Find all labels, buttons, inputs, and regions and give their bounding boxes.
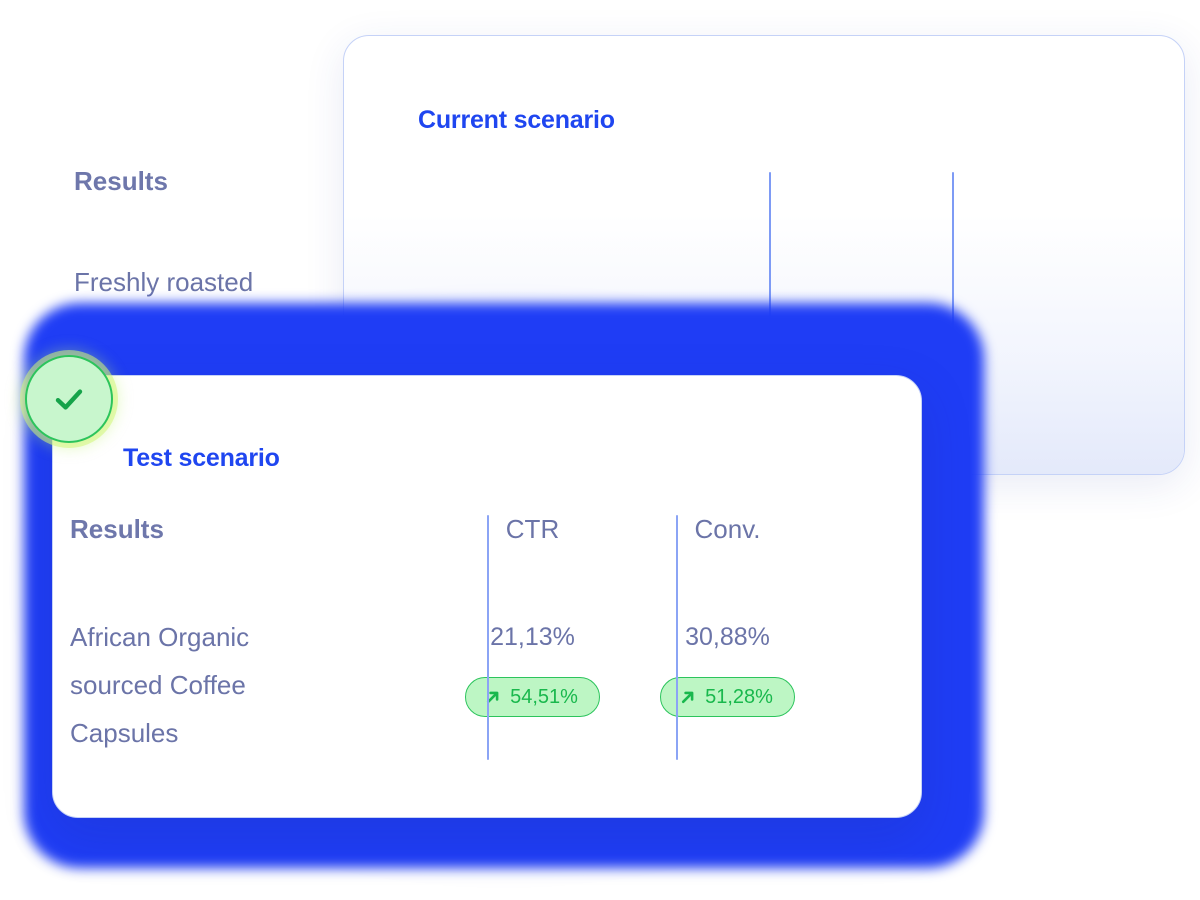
conv-delta-badge: 51,28% — [660, 677, 795, 717]
current-scenario-card-body: Current scenario — [344, 36, 1184, 135]
test-scenario-table: Results CTR Conv. African Organic source… — [70, 512, 870, 757]
test-table-header-row: Results CTR Conv. — [70, 512, 870, 546]
test-col-header-ctr: CTR — [435, 512, 630, 546]
test-row-ctr-cell: 21,13% 54,51% — [435, 613, 630, 717]
ctr-delta-badge: 54,51% — [465, 677, 600, 717]
test-row-product-name: African Organic sourced Coffee Capsules — [70, 613, 435, 757]
test-row-conv-value: 30,88% — [630, 613, 825, 661]
test-table-divider-2 — [676, 515, 678, 760]
conv-delta-value: 51,28% — [705, 687, 773, 707]
comparison-cards-stage: Current scenario Results CTR Conv. Fresh… — [0, 0, 1200, 900]
test-scenario-title: Test scenario — [123, 444, 921, 473]
test-col-header-results: Results — [70, 512, 435, 546]
test-scenario-card-body: Test scenario — [53, 376, 921, 473]
ctr-delta-value: 54,51% — [510, 687, 578, 707]
arrow-up-right-icon — [679, 689, 696, 706]
test-table-divider-1 — [487, 515, 489, 760]
table-row: African Organic sourced Coffee Capsules … — [70, 613, 870, 757]
check-circle-icon — [25, 355, 113, 443]
test-row-conv-cell: 30,88% 51,28% — [630, 613, 825, 717]
current-scenario-title: Current scenario — [418, 106, 1184, 135]
test-col-header-conv: Conv. — [630, 512, 825, 546]
test-row-ctr-value: 21,13% — [435, 613, 630, 661]
